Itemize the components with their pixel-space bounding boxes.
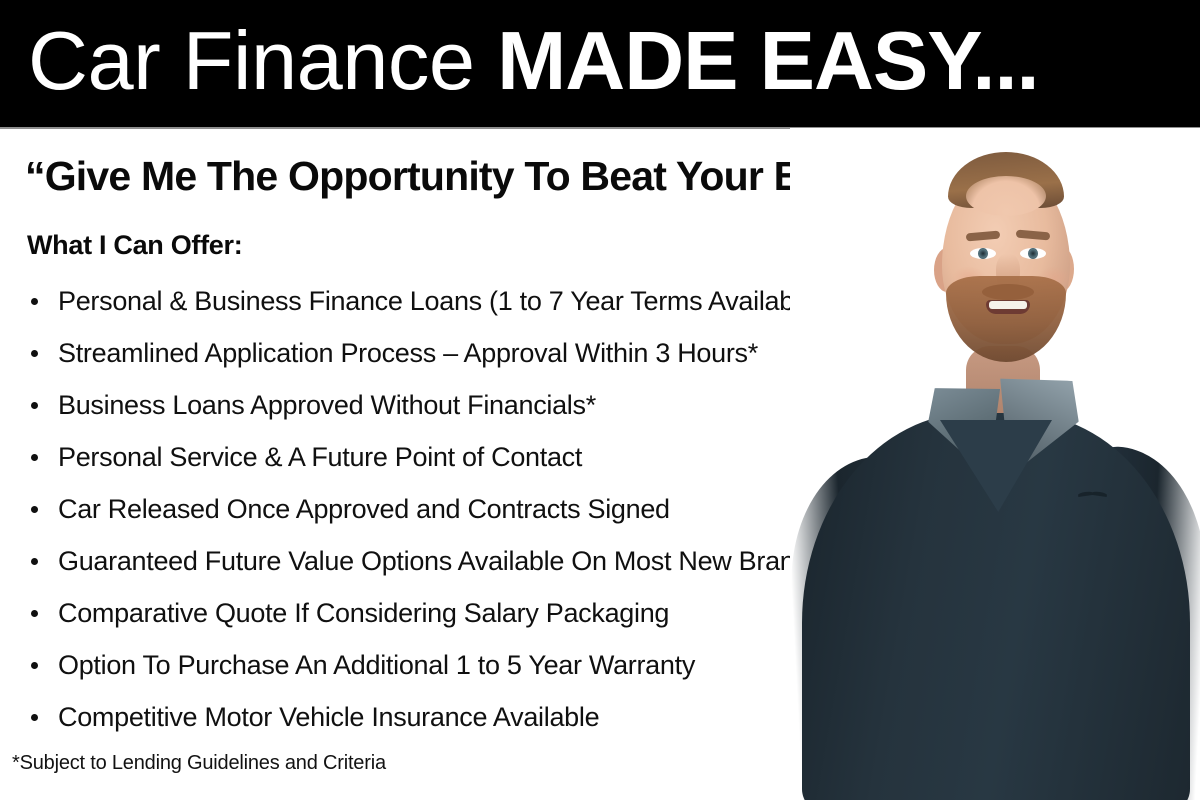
bullet-icon [31,298,38,305]
iris-left [978,248,988,259]
list-item-label: Option To Purchase An Additional 1 to 5 … [58,650,695,680]
bullet-icon [31,350,38,357]
list-item-label: Business Loans Approved Without Financia… [58,390,596,420]
bullet-icon [31,454,38,461]
bullet-icon [31,610,38,617]
list-item: Option To Purchase An Additional 1 to 5 … [0,639,880,691]
list-item-label: Personal Service & A Future Point of Con… [58,442,582,472]
list-item: Personal & Business Finance Loans (1 to … [0,275,880,327]
bullet-icon [31,558,38,565]
mustache [982,284,1034,300]
list-item-label: Streamlined Application Process – Approv… [58,338,758,368]
portrait-photo [790,128,1200,800]
list-item: Comparative Quote If Considering Salary … [0,587,880,639]
list-item: Personal Service & A Future Point of Con… [0,431,880,483]
footnote-disclaimer: *Subject to Lending Guidelines and Crite… [12,751,386,776]
page-title: Car Finance MADE EASY... [28,9,1039,113]
list-item: Competitive Motor Vehicle Insurance Avai… [0,691,880,743]
page-title-regular: Car Finance [28,14,497,107]
list-item-label: Personal & Business Finance Loans (1 to … [58,286,823,316]
page-title-bold: MADE EASY... [497,14,1038,107]
list-item-label: Comparative Quote If Considering Salary … [58,598,669,628]
benefits-list: Personal & Business Finance Loans (1 to … [0,275,880,743]
list-item: Guaranteed Future Value Options Availabl… [0,535,880,587]
eye-right [1020,248,1046,259]
list-item: Car Released Once Approved and Contracts… [0,483,880,535]
advertisement-poster: Car Finance MADE EASY... “Give Me The Op… [0,0,1200,800]
iris-right [1028,248,1038,259]
forehead [966,176,1046,216]
list-item-label: Car Released Once Approved and Contracts… [58,494,670,524]
eye-left [970,248,996,259]
mouth [986,300,1030,314]
bullet-icon [31,714,38,721]
list-item-label: Guaranteed Future Value Options Availabl… [58,546,822,576]
teeth [989,301,1027,309]
bullet-icon [31,506,38,513]
bullet-icon [31,662,38,669]
list-item-label: Competitive Motor Vehicle Insurance Avai… [58,702,599,732]
list-item: Business Loans Approved Without Financia… [0,379,880,431]
sweater-logo-icon [1078,490,1108,499]
list-item: Streamlined Application Process – Approv… [0,327,880,379]
bullet-icon [31,402,38,409]
offer-heading: What I Can Offer: [27,229,242,262]
header-banner: Car Finance MADE EASY... [0,0,1200,127]
